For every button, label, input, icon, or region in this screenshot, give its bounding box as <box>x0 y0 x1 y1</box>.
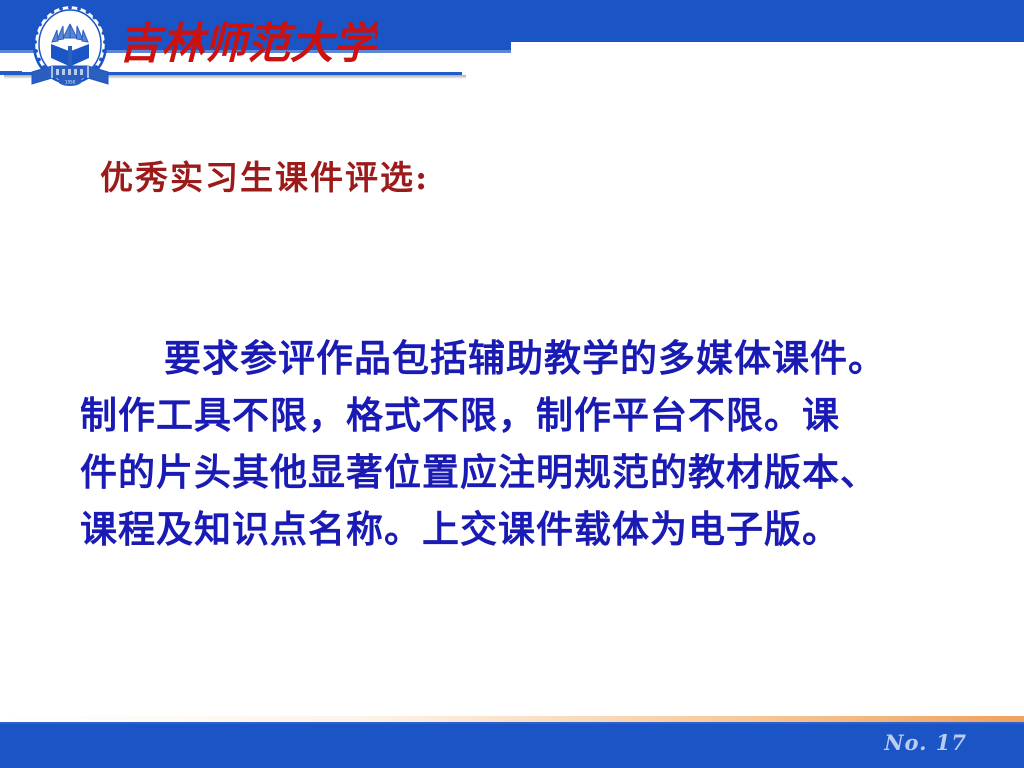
university-emblem-icon: 1958 <box>22 2 118 94</box>
presentation-slide: 1958 吉林师范大学 优秀实习生课件评选: 要求参评作品包括辅助教学的多媒体课… <box>0 0 1024 768</box>
slide-body-text: 要求参评作品包括辅助教学的多媒体课件。 制作工具不限，格式不限，制作平台不限。课… <box>80 330 980 558</box>
page-number: No. 17 <box>884 730 967 755</box>
body-line: 课程及知识点名称。上交课件载体为电子版。 <box>80 501 980 558</box>
body-line: 要求参评作品包括辅助教学的多媒体课件。 <box>80 330 980 387</box>
footer-bar-edge <box>0 722 1024 724</box>
university-name-calligraphy-icon: 吉林师范大学 <box>118 6 378 74</box>
body-line: 件的片头其他显著位置应注明规范的教材版本、 <box>80 444 980 501</box>
university-name-logo: 吉林师范大学 <box>118 6 378 74</box>
body-line: 制作工具不限，格式不限，制作平台不限。课 <box>80 387 980 444</box>
slide-header: 1958 吉林师范大学 <box>0 0 1024 100</box>
university-name-text: 吉林师范大学 <box>118 19 378 69</box>
slide-footer: No. 17 <box>0 716 1024 768</box>
svg-text:1958: 1958 <box>65 80 76 85</box>
footer-blue-bar <box>0 722 1024 768</box>
section-title: 优秀实习生课件评选: <box>100 158 429 198</box>
